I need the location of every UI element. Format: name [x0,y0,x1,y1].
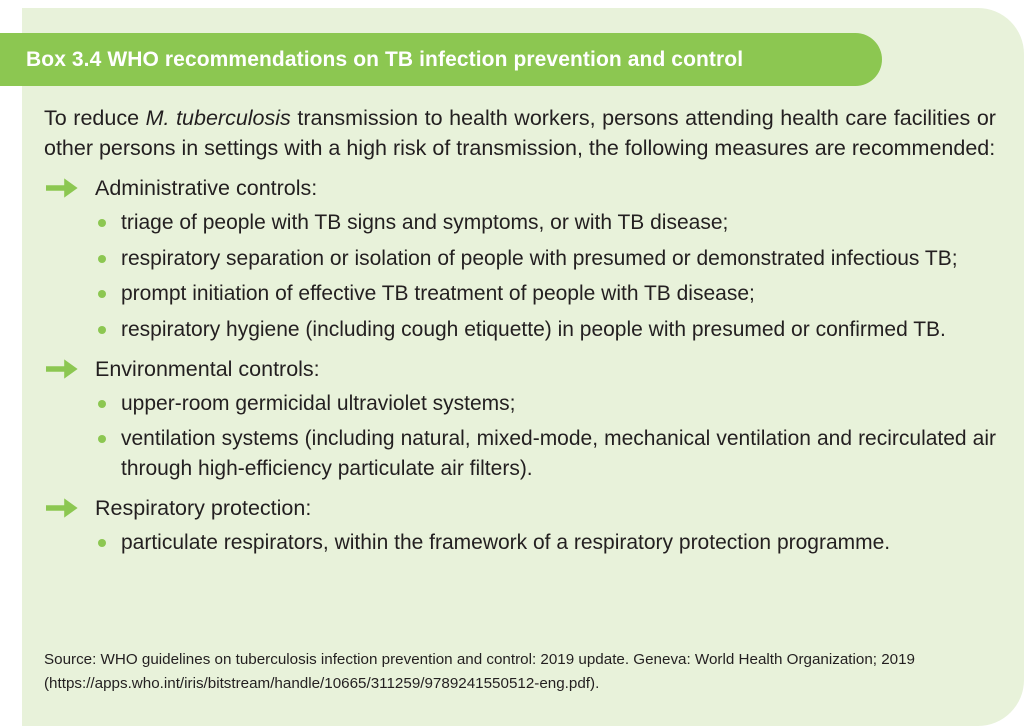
list-item: ventilation systems (including natural, … [44,424,996,484]
group-items: triage of people with TB signs and sympt… [44,208,996,345]
bullet-dot-icon [98,290,106,298]
bullet-dot-icon [98,400,106,408]
list-item: triage of people with TB signs and sympt… [44,208,996,238]
recommendation-groups: Administrative controls: triage of peopl… [44,173,996,557]
group-administrative-controls: Administrative controls: triage of peopl… [44,173,996,345]
list-item: respiratory separation or isolation of p… [44,244,996,274]
arrow-right-icon [44,495,80,521]
bullet-dot-icon [98,326,106,334]
list-item: upper-room germicidal ultraviolet system… [44,389,996,419]
list-item-text: upper-room germicidal ultraviolet system… [121,392,515,415]
box-header-banner: Box 3.4 WHO recommendations on TB infect… [0,33,882,86]
list-item-text: ventilation systems (including natural, … [121,427,996,480]
list-item-text: triage of people with TB signs and sympt… [121,211,728,234]
list-item-text: respiratory separation or isolation of p… [121,247,958,270]
bullet-dot-icon [98,219,106,227]
box-body: To reduce M. tuberculosis transmission t… [44,104,996,557]
source-footnote: Source: WHO guidelines on tuberculosis i… [44,648,1000,697]
intro-paragraph: To reduce M. tuberculosis transmission t… [44,104,996,163]
intro-italic-species: M. tuberculosis [146,106,291,130]
group-respiratory-protection: Respiratory protection: particulate resp… [44,493,996,557]
group-items: particulate respirators, within the fram… [44,528,996,558]
group-heading: Respiratory protection: [44,493,996,524]
arrow-right-icon [44,356,80,382]
list-item: particulate respirators, within the fram… [44,528,996,558]
group-label: Environmental controls: [95,357,320,381]
group-environmental-controls: Environmental controls: upper-room germi… [44,354,996,484]
list-item-text: prompt initiation of effective TB treatm… [121,282,755,305]
list-item: respiratory hygiene (including cough eti… [44,315,996,345]
bullet-dot-icon [98,255,106,263]
group-heading: Environmental controls: [44,354,996,385]
group-label: Administrative controls: [95,176,317,200]
group-label: Respiratory protection: [95,496,311,520]
box-title: Box 3.4 WHO recommendations on TB infect… [26,48,743,71]
box-page: Box 3.4 WHO recommendations on TB infect… [0,0,1024,726]
intro-text-pre: To reduce [44,106,146,130]
list-item-text: respiratory hygiene (including cough eti… [121,318,946,341]
bullet-dot-icon [98,539,106,547]
group-items: upper-room germicidal ultraviolet system… [44,389,996,484]
bullet-dot-icon [98,435,106,443]
list-item: prompt initiation of effective TB treatm… [44,279,996,309]
arrow-right-icon [44,175,80,201]
group-heading: Administrative controls: [44,173,996,204]
list-item-text: particulate respirators, within the fram… [121,531,890,554]
